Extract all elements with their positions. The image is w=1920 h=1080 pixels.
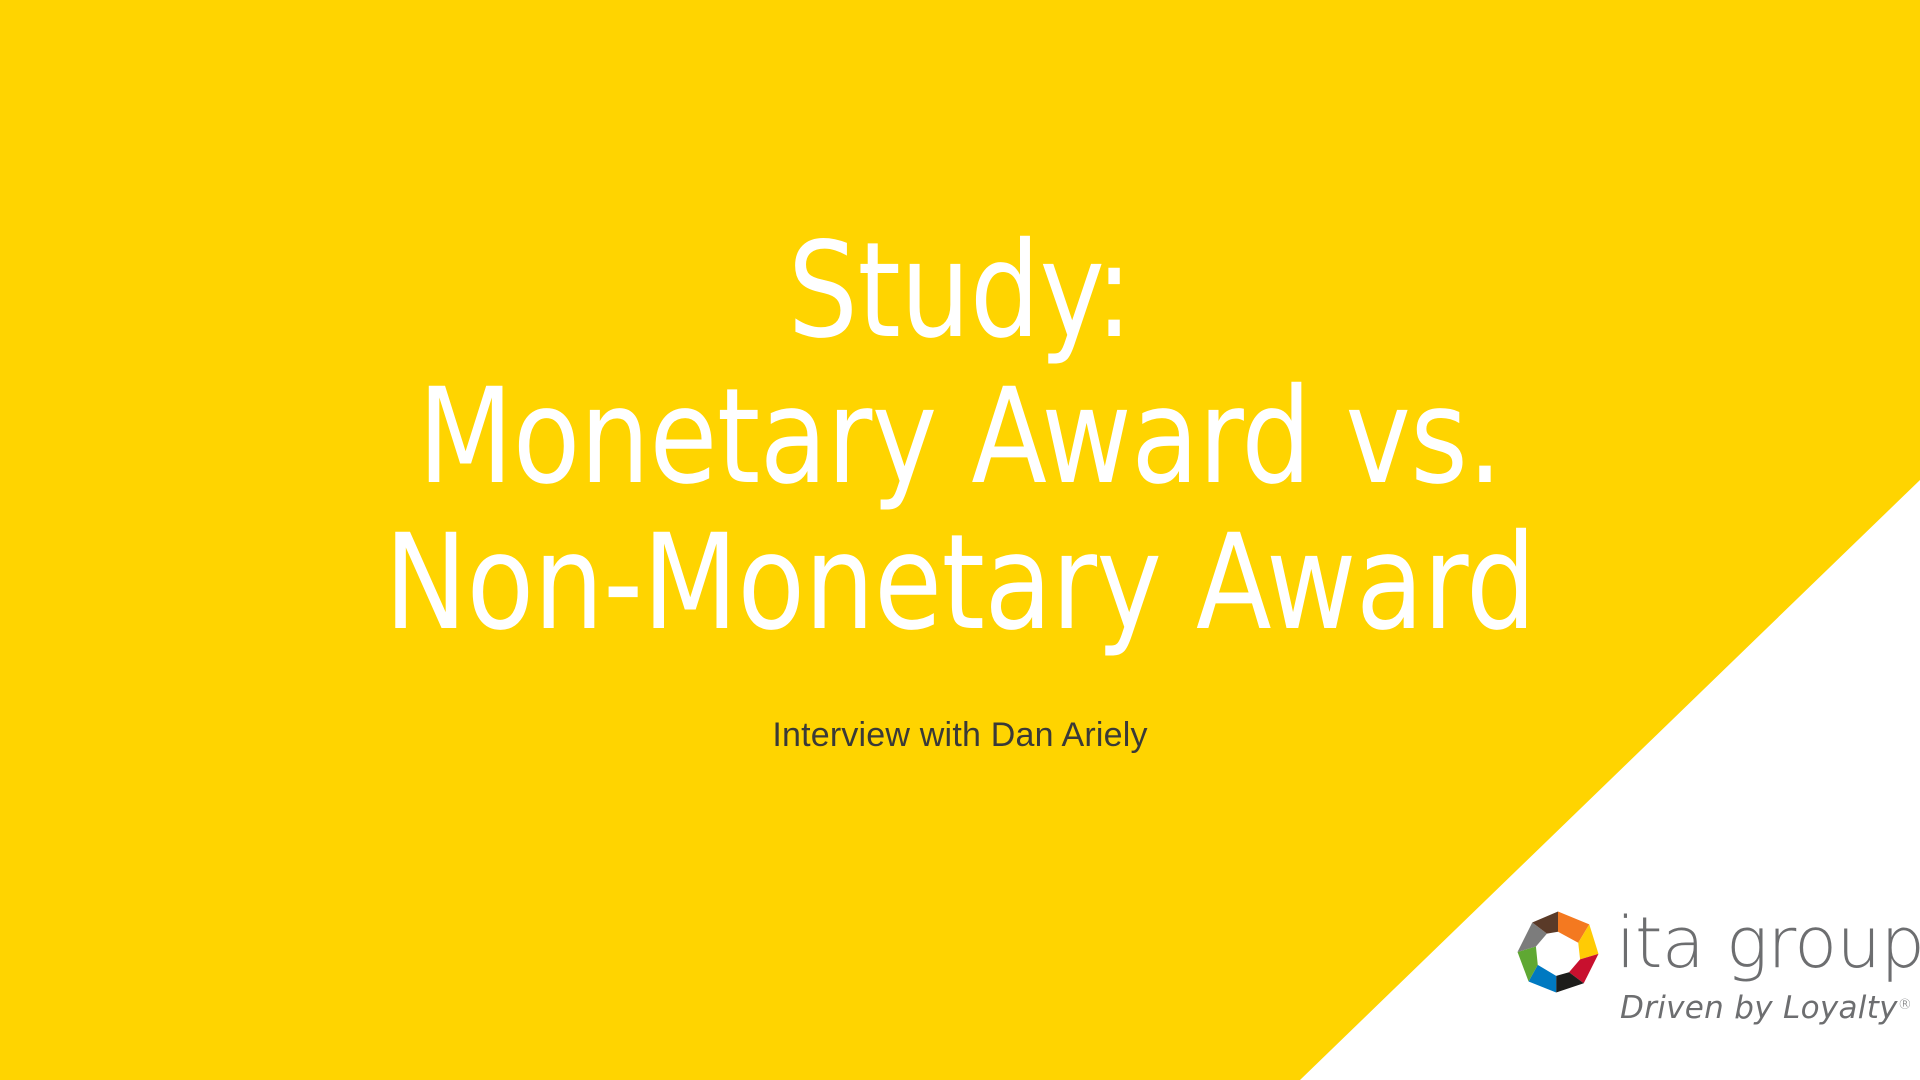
subtitle: Interview with Dan Ariely	[0, 716, 1920, 755]
title-line-2: Monetary Award vs.	[67, 364, 1853, 510]
title-line-3: Non-Monetary Award	[67, 510, 1853, 656]
ita-group-wordmark: ita group.®	[1616, 904, 1920, 991]
tagline-registered-icon: ®	[1898, 997, 1912, 1013]
ita-group-tagline: Driven by Loyalty®	[1620, 988, 1912, 1025]
tagline-text: Driven by Loyalty	[1620, 990, 1898, 1026]
title-slide: Study: Monetary Award vs. Non-Monetary A…	[0, 0, 1920, 1080]
wordmark-text: ita group	[1616, 902, 1920, 984]
ita-group-logo: ita group.® Driven by Loyalty®	[1512, 902, 1912, 1032]
title-line-1: Study:	[67, 218, 1853, 364]
ita-group-pinwheel-icon	[1512, 906, 1604, 998]
page-title: Study: Monetary Award vs. Non-Monetary A…	[0, 218, 1920, 656]
